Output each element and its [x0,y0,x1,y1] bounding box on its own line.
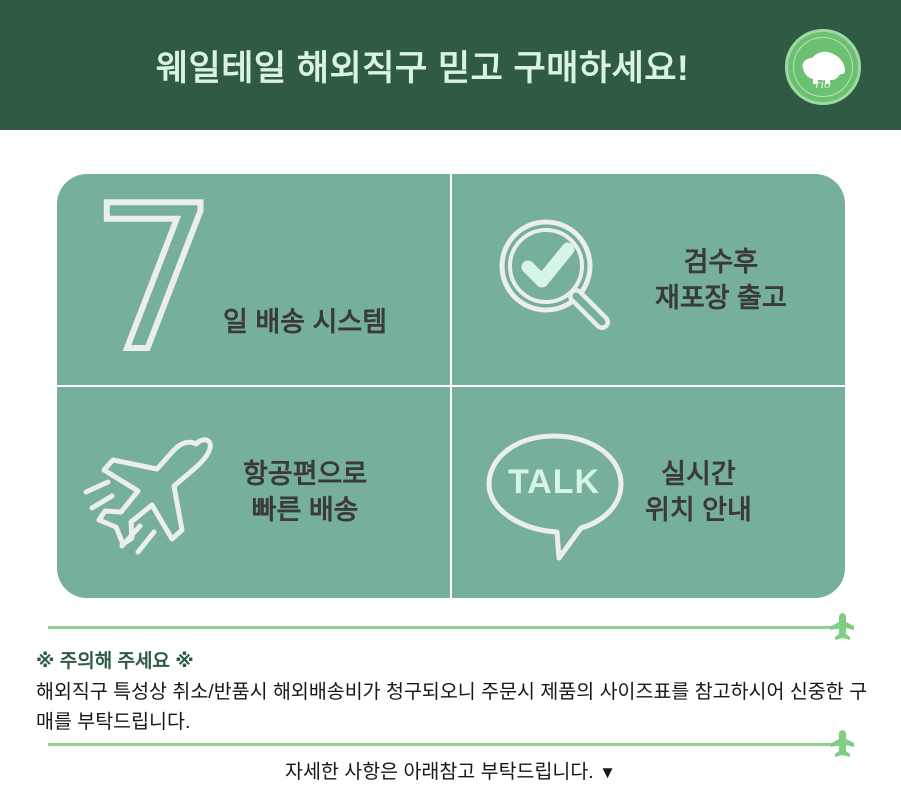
airplane-outline-icon [73,422,233,562]
feature-label-inspection-repack: 검수후 재포장 출고 [655,244,787,317]
logo-wordmark: rio [788,76,858,92]
footer-note-text: 자세한 사항은 아래참고 부탁드립니다. [285,761,594,783]
feature-cell-shipping-days: 7 일 배송 시스템 [57,174,451,386]
feature-cell-inspection-repack: 검수후 재포장 출고 [451,174,845,386]
airplane-icon [827,730,857,758]
speech-bubble-icon: TALK [469,422,639,562]
grid-horizontal-divider [57,385,845,387]
feature-cell-realtime-location: TALK 실시간 위치 안내 [451,386,845,598]
feature-label-shipping-days: 일 배송 시스템 [223,305,387,340]
feature-label-air-shipping: 항공편으로 빠른 배송 [243,456,367,529]
seven-numeral: 7 [90,195,217,365]
airplane-icon [827,613,857,641]
page-title: 웨일테일 해외직구 믿고 구매하세요! [156,40,689,91]
magnifier-check-icon [481,214,631,346]
talk-label: TALK [469,463,639,502]
notice-divider-bottom [48,743,845,746]
feature-label-realtime-location: 실시간 위치 안내 [645,456,752,529]
feature-grid: 7 일 배송 시스템 검수후 재포장 출고 [57,174,845,598]
chevron-down-icon: ▼ [599,763,616,782]
notice-title: ※ 주의해 주세요 ※ [36,646,194,673]
promo-banner: 웨일테일 해외직구 믿고 구매하세요! rio 7 일 배송 시스템 [0,0,901,790]
notice-divider-top [48,626,845,629]
feature-cell-air-shipping: 항공편으로 빠른 배송 [57,386,451,598]
footer-note: 자세한 사항은 아래참고 부탁드립니다. ▼ [0,755,901,784]
brand-logo-badge: rio [785,29,861,105]
number-seven-outline-icon: 7 [79,195,229,365]
banner-header: 웨일테일 해외직구 믿고 구매하세요! rio [0,0,901,130]
notice-body: 해외직구 특성상 취소/반품시 해외배송비가 청구되오니 주문시 제품의 사이즈… [36,677,876,737]
